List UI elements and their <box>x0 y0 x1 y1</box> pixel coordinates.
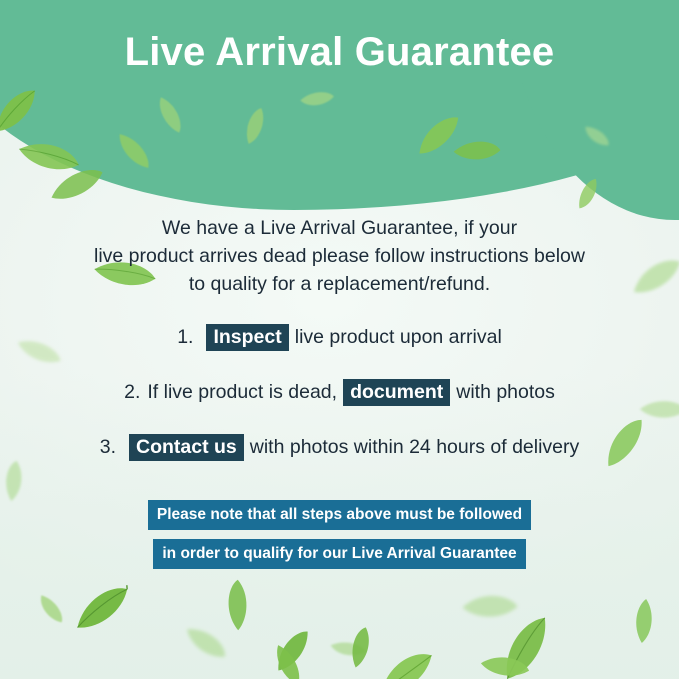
step-item-3: 3. Contact us with photos within 24 hour… <box>0 430 679 464</box>
intro-line-1: We have a Live Arrival Guarantee, if you… <box>0 214 679 242</box>
step-item-2: 2. If live product is dead, document wit… <box>0 375 679 409</box>
document-badge: document <box>343 379 450 406</box>
step-text-after: with photos within 24 hours of delivery <box>250 436 580 459</box>
guarantee-graphic: Live Arrival Guarantee <box>0 0 679 679</box>
step-text-after: live product upon arrival <box>295 326 502 349</box>
step-text-before: If live product is dead, <box>147 381 337 404</box>
notice-block: Please note that all steps above must be… <box>0 500 679 578</box>
step-number: 2. <box>124 381 140 404</box>
inspect-badge: Inspect <box>206 324 288 351</box>
steps-list: 1. Inspect live product upon arrival 2. … <box>0 320 679 485</box>
page-title: Live Arrival Guarantee <box>0 32 679 72</box>
step-number: 1. <box>177 326 193 349</box>
step-number: 3. <box>100 436 116 459</box>
intro-line-2: live product arrives dead please follow … <box>0 242 679 270</box>
intro-line-3: to quality for a replacement/refund. <box>0 270 679 298</box>
notice-line-2: in order to qualify for our Live Arrival… <box>153 539 525 569</box>
contact-us-badge: Contact us <box>129 434 244 461</box>
notice-line-1: Please note that all steps above must be… <box>148 500 531 530</box>
intro-paragraph: We have a Live Arrival Guarantee, if you… <box>0 214 679 298</box>
step-text-after: with photos <box>456 381 555 404</box>
step-item-1: 1. Inspect live product upon arrival <box>0 320 679 354</box>
